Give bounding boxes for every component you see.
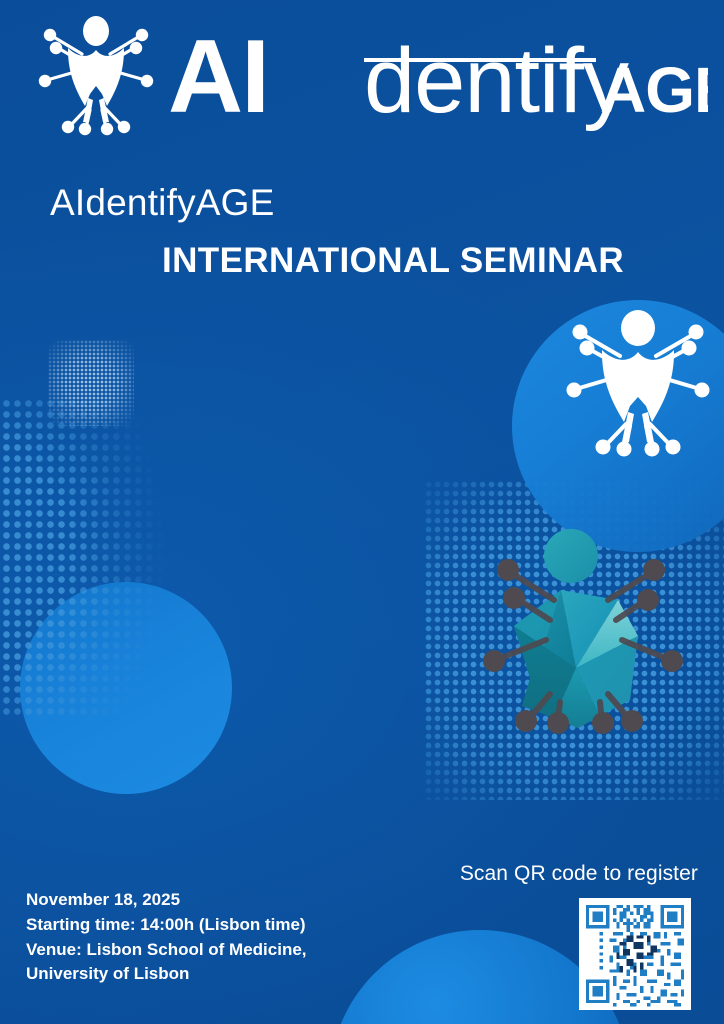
qr-caption: Scan QR code to register (460, 862, 698, 886)
aidentifyage-figure-teal-icon (458, 518, 710, 758)
halftone-pattern-left-edge (0, 398, 200, 716)
wordmark-part-dentify: dentify (364, 30, 629, 132)
event-details: November 18, 2025 Starting time: 14:00h … (26, 888, 406, 987)
wordmark-part-age: AGE (600, 54, 708, 126)
title-block: AIdentifyAGE INTERNATIONAL SEMINAR (0, 182, 724, 281)
halftone-sphere-upper-left (48, 340, 134, 426)
aidentifyage-figure-logo-icon (30, 14, 162, 136)
aidentifyage-figure-white-icon (556, 306, 720, 458)
registration-qr-code[interactable] (579, 898, 691, 1010)
poster-title-secondary: INTERNATIONAL SEMINAR (0, 241, 724, 280)
poster-header: AI dentify AGE (0, 0, 724, 150)
event-time: Starting time: 14:00h (Lisbon time) (26, 913, 406, 938)
event-date: November 18, 2025 (26, 888, 406, 913)
event-venue: Venue: Lisbon School of Medicine, Univer… (26, 938, 406, 988)
seminar-poster: AI dentify AGE AIdentifyAGE INTERNATIONA… (0, 0, 724, 1024)
poster-title-primary: AIdentifyAGE (0, 182, 724, 223)
wordmark-part-ai: AI (168, 19, 268, 134)
aidentifyage-wordmark: AI dentify AGE (168, 14, 708, 134)
